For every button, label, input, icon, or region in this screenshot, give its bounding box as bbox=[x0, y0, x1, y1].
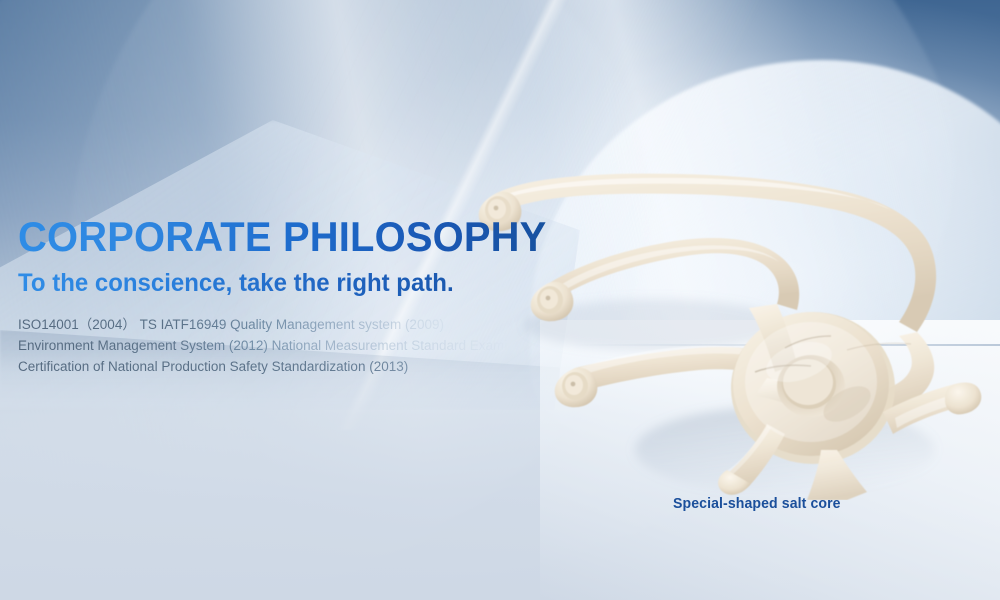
certification-line: Certification of National Production Saf… bbox=[18, 356, 578, 377]
certification-line: Environment Management System (2012) Nat… bbox=[18, 335, 578, 356]
corporate-philosophy-banner: CORPORATE PHILOSOPHY To the conscience, … bbox=[0, 0, 1000, 600]
product-caption: Special-shaped salt core bbox=[673, 495, 841, 512]
certification-line: ISO14001（2004） TS IATF16949 Quality Mana… bbox=[18, 314, 578, 335]
headline-text-block: CORPORATE PHILOSOPHY To the conscience, … bbox=[18, 214, 578, 377]
certification-list: ISO14001（2004） TS IATF16949 Quality Mana… bbox=[18, 314, 578, 377]
page-title: CORPORATE PHILOSOPHY bbox=[18, 214, 550, 260]
page-subtitle: To the conscience, take the right path. bbox=[18, 268, 556, 298]
